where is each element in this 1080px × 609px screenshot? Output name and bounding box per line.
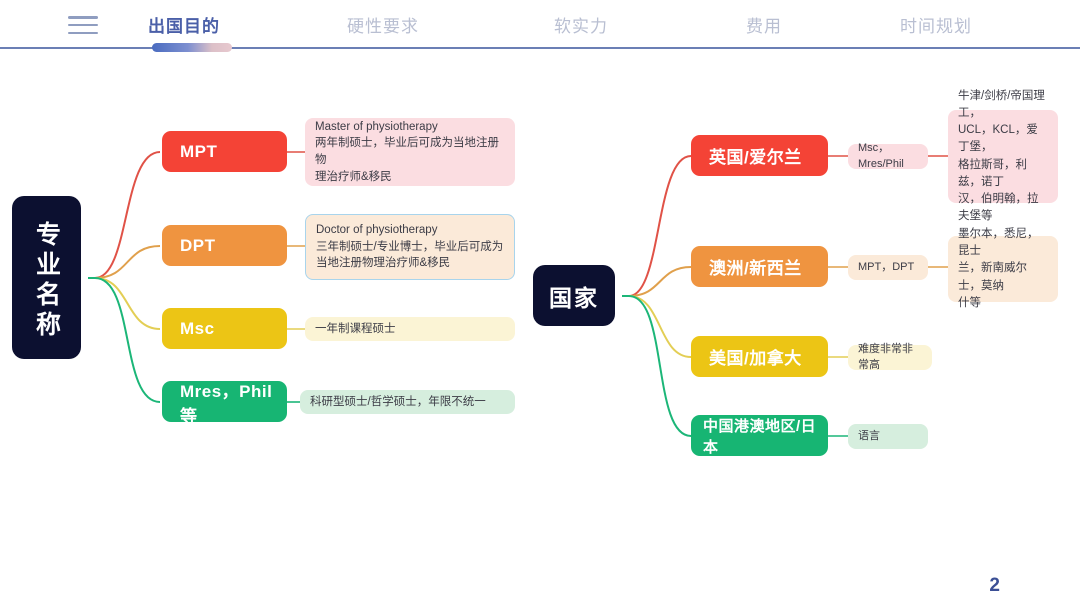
note-dpt: Doctor of physiotherapy 三年制硕士/专业博士，毕业后可成… — [305, 214, 515, 280]
left-map-root-node[interactable]: 专业名称 — [12, 196, 81, 359]
tab-ruanshili[interactable]: 软实力 — [554, 12, 608, 37]
detail-uk-line2: UCL，KCL，爱丁堡， — [958, 122, 1048, 157]
tab-feiyong[interactable]: 费用 — [746, 12, 782, 37]
note-mpt-line2: 两年制硕士，毕业后可成为当地注册物 — [315, 135, 505, 168]
branch-node-dpt[interactable]: DPT — [162, 225, 287, 266]
branch-node-uk-ireland[interactable]: 英国/爱尔兰 — [691, 135, 828, 176]
active-tab-indicator — [152, 43, 232, 52]
degree-china-hk-macau-japan: 语言 — [848, 424, 928, 449]
branch-node-usa-canada[interactable]: 美国/加拿大 — [691, 336, 828, 377]
degree-uk-ireland: Msc，Mres/Phil — [848, 144, 928, 169]
note-dpt-line1: Doctor of physiotherapy — [316, 222, 437, 239]
detail-uk-line1: 牛津/剑桥/帝国理工， — [958, 88, 1048, 123]
note-msc: 一年制课程硕士 — [305, 317, 515, 341]
hamburger-bar — [68, 16, 98, 19]
tab-yingxingyaoqiu[interactable]: 硬性要求 — [347, 12, 419, 37]
note-mpt-line3: 理治疗师&移民 — [315, 169, 392, 186]
note-mpt-line1: Master of physiotherapy — [315, 119, 438, 136]
tab-shijianguihua[interactable]: 时间规划 — [900, 12, 972, 37]
hamburger-bar — [68, 32, 98, 35]
branch-node-msc[interactable]: Msc — [162, 308, 287, 349]
detail-uk-line3: 格拉斯哥，利兹，诺丁 — [958, 157, 1048, 192]
tab-chuguomudi[interactable]: 出国目的 — [148, 12, 220, 37]
right-map-root-node[interactable]: 国家 — [533, 265, 615, 326]
degree-usa-canada: 难度非常非常高 — [848, 345, 932, 370]
branch-node-australia-nz[interactable]: 澳洲/新西兰 — [691, 246, 828, 287]
detail-uk-universities: 牛津/剑桥/帝国理工， UCL，KCL，爱丁堡， 格拉斯哥，利兹，诺丁 汉，伯明… — [948, 110, 1058, 203]
detail-au-line2: 兰，新南威尔士，莫纳 — [958, 260, 1048, 295]
branch-node-mpt[interactable]: MPT — [162, 131, 287, 172]
top-navigation-bar: 出国目的 硬性要求 软实力 费用 时间规划 — [0, 0, 1080, 48]
detail-australia-universities: 墨尔本，悉尼，昆士 兰，新南威尔士，莫纳 什等 — [948, 236, 1058, 302]
hamburger-bar — [68, 24, 98, 27]
note-dpt-line3: 当地注册物理治疗师&移民 — [316, 255, 450, 272]
page-number: 2 — [989, 575, 1000, 597]
note-dpt-line2: 三年制硕士/专业博士，毕业后可成为 — [316, 239, 503, 256]
degree-australia-nz: MPT，DPT — [848, 255, 928, 280]
hamburger-menu-icon[interactable] — [68, 14, 98, 36]
detail-au-line1: 墨尔本，悉尼，昆士 — [958, 226, 1048, 261]
detail-uk-line4: 汉，伯明翰，拉夫堡等 — [958, 191, 1048, 226]
branch-node-china-hk-macau-japan[interactable]: 中国港澳地区/日本 — [691, 415, 828, 456]
detail-au-line3: 什等 — [958, 295, 981, 312]
branch-node-mres-phil[interactable]: Mres，Phil等 — [162, 381, 287, 422]
note-mpt: Master of physiotherapy 两年制硕士，毕业后可成为当地注册… — [305, 118, 515, 186]
note-mres-phil: 科研型硕士/哲学硕士，年限不统一 — [300, 390, 515, 414]
